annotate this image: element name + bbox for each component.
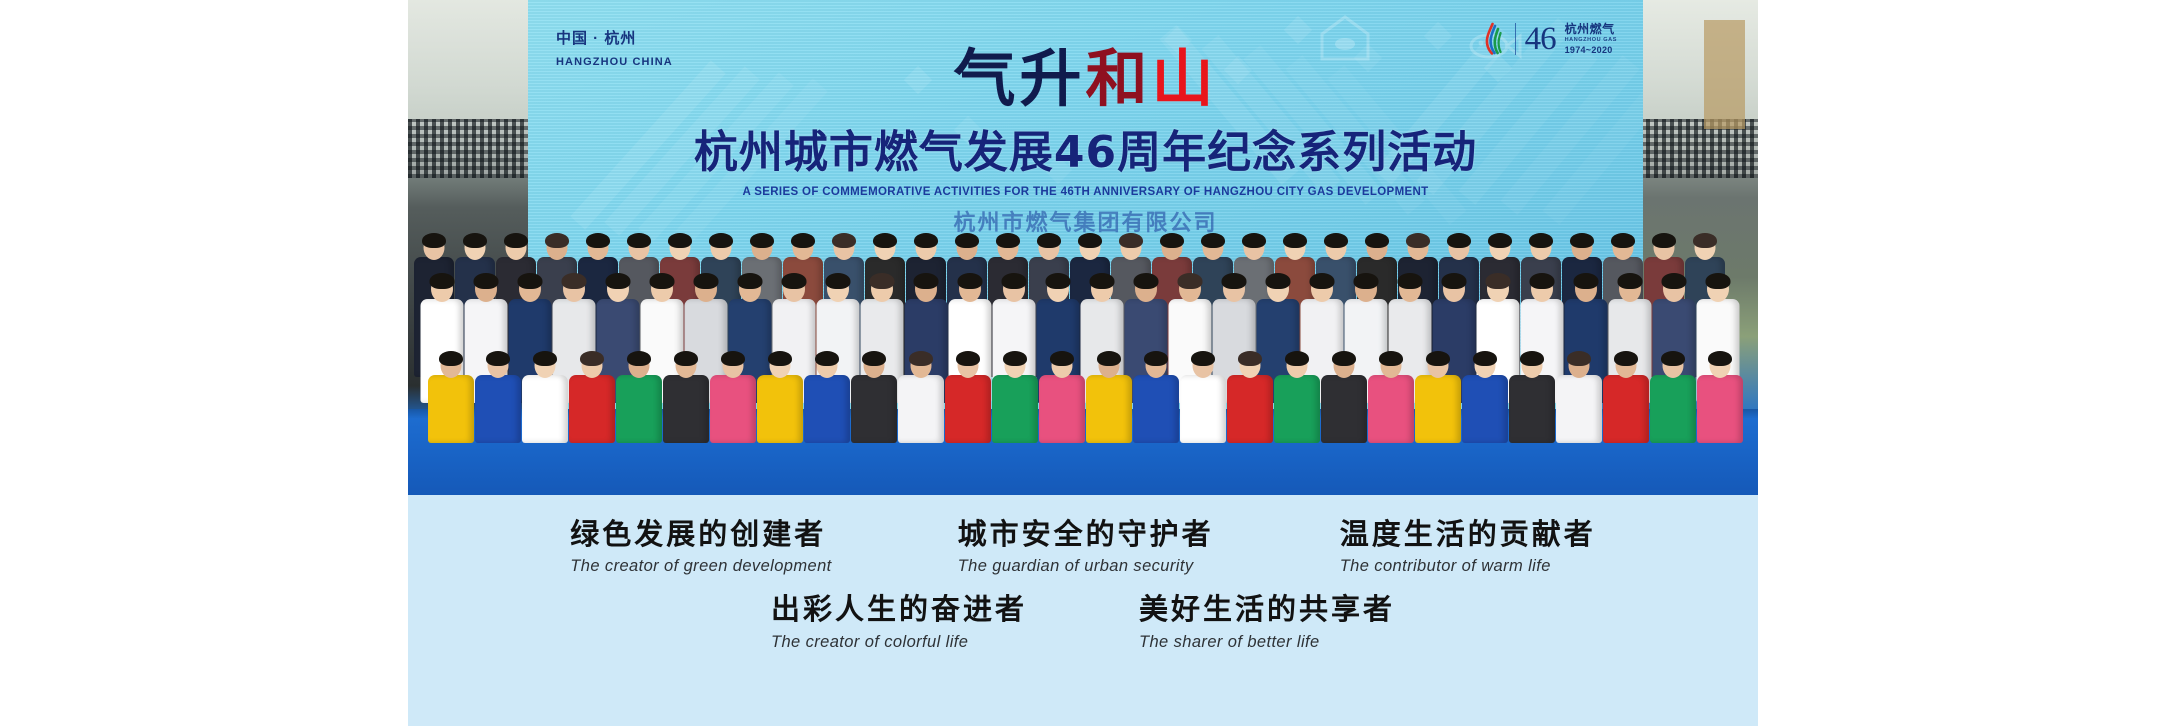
person-body: [898, 375, 944, 443]
person-hair: [1221, 273, 1246, 289]
person-hair: [649, 273, 674, 289]
person-hair: [1089, 273, 1114, 289]
person-hair: [1693, 233, 1717, 249]
person-hair: [1324, 233, 1348, 249]
person-hair: [1661, 273, 1686, 289]
calligraphy-part2: 和: [1085, 42, 1151, 115]
person-hair: [1570, 233, 1594, 249]
calligraphy-title: 气升和山: [528, 48, 1643, 110]
group-photo-crowd: [408, 165, 1758, 495]
person-body: [475, 375, 521, 443]
person-hair: [1201, 233, 1225, 249]
person-hair: [862, 351, 886, 367]
person-hair: [517, 273, 542, 289]
person-hair: [1191, 351, 1215, 367]
person-hair: [1614, 351, 1638, 367]
calligraphy-part1: 气升: [953, 42, 1085, 115]
person-hair: [1050, 351, 1074, 367]
person-hair: [439, 351, 463, 367]
person-hair: [1441, 273, 1466, 289]
person-hair: [1265, 273, 1290, 289]
person-body: [1603, 375, 1649, 443]
person-hair: [674, 351, 698, 367]
crowd-person: [1462, 342, 1508, 443]
person-body: [1039, 375, 1085, 443]
crowd-person: [522, 342, 568, 443]
crowd-person: [663, 342, 709, 443]
person-hair: [1097, 351, 1121, 367]
crowd-person: [1603, 342, 1649, 443]
person-hair: [709, 233, 733, 249]
person-hair: [605, 273, 630, 289]
slogan-cn: 城市安全的守护者: [958, 517, 1214, 552]
crowd-person: [475, 342, 521, 443]
person-hair: [1611, 233, 1635, 249]
slogan-panel: 绿色发展的创建者 The creator of green developmen…: [408, 495, 1758, 726]
person-hair: [545, 233, 569, 249]
crowd-person: [992, 342, 1038, 443]
person-body: [1180, 375, 1226, 443]
person-hair: [869, 273, 894, 289]
person-hair: [737, 273, 762, 289]
crowd-person: [710, 342, 756, 443]
crowd-person: [1086, 342, 1132, 443]
slogan-item: 城市安全的守护者 The guardian of urban security: [958, 517, 1214, 576]
person-hair: [1488, 233, 1512, 249]
person-hair: [422, 233, 446, 249]
person-hair: [1406, 233, 1430, 249]
person-hair: [1652, 233, 1676, 249]
person-hair: [693, 273, 718, 289]
crowd-person: [1321, 342, 1367, 443]
person-hair: [1617, 273, 1642, 289]
person-hair: [463, 233, 487, 249]
person-hair: [504, 233, 528, 249]
person-hair: [1119, 233, 1143, 249]
crowd-person: [851, 342, 897, 443]
person-hair: [1447, 233, 1471, 249]
crowd-person: [1133, 342, 1179, 443]
slogan-item: 绿色发展的创建者 The creator of green developmen…: [570, 517, 831, 576]
person-hair: [1573, 273, 1598, 289]
person-hair: [561, 273, 586, 289]
crowd-person: [569, 342, 615, 443]
crowd-person: [1368, 342, 1414, 443]
person-body: [710, 375, 756, 443]
person-hair: [1485, 273, 1510, 289]
person-hair: [668, 233, 692, 249]
person-hair: [1045, 273, 1070, 289]
company-name-en: HANGZHOU GAS: [1565, 37, 1617, 43]
person-body: [851, 375, 897, 443]
person-hair: [1661, 351, 1685, 367]
person-hair: [1285, 351, 1309, 367]
slogan-cn: 绿色发展的创建者: [570, 517, 831, 552]
person-hair: [955, 233, 979, 249]
person-hair: [815, 351, 839, 367]
crowd-person: [945, 342, 991, 443]
person-hair: [914, 233, 938, 249]
person-hair: [873, 233, 897, 249]
person-hair: [627, 351, 651, 367]
slogan-cn: 出彩人生的奋进者: [771, 592, 1027, 627]
person-body: [992, 375, 1038, 443]
slogan-item: 出彩人生的奋进者 The creator of colorful life: [771, 592, 1027, 651]
person-hair: [1365, 233, 1389, 249]
person-body: [1650, 375, 1696, 443]
person-hair: [1160, 233, 1184, 249]
slogan-en: The contributor of warm life: [1340, 557, 1596, 576]
person-body: [1556, 375, 1602, 443]
crowd-person: [757, 342, 803, 443]
venue-door: [1704, 20, 1746, 129]
person-hair: [1133, 273, 1158, 289]
person-hair: [580, 351, 604, 367]
slogan-item: 美好生活的共享者 The sharer of better life: [1139, 592, 1395, 651]
content-panel: 中国 · 杭州 HANGZHOU CHINA 46 杭州燃气: [408, 0, 1758, 726]
crowd-person: [1556, 342, 1602, 443]
person-hair: [1520, 351, 1544, 367]
person-hair: [486, 351, 510, 367]
person-hair: [1001, 273, 1026, 289]
person-hair: [1379, 351, 1403, 367]
person-hair: [1705, 273, 1730, 289]
person-body: [1697, 375, 1743, 443]
crowd-person: [1415, 342, 1461, 443]
person-body: [945, 375, 991, 443]
person-body: [1321, 375, 1367, 443]
slogan-en: The creator of colorful life: [771, 633, 1027, 652]
person-hair: [586, 233, 610, 249]
person-hair: [429, 273, 454, 289]
person-body: [428, 375, 474, 443]
crowd-person: [1039, 342, 1085, 443]
crowd-person: [898, 342, 944, 443]
person-hair: [913, 273, 938, 289]
slogan-row-1: 绿色发展的创建者 The creator of green developmen…: [408, 495, 1758, 576]
person-body: [1086, 375, 1132, 443]
person-body: [804, 375, 850, 443]
person-hair: [1708, 351, 1732, 367]
person-hair: [791, 233, 815, 249]
person-hair: [1003, 351, 1027, 367]
slogan-item: 温度生活的贡献者 The contributor of warm life: [1340, 517, 1596, 576]
person-body: [1462, 375, 1508, 443]
slogan-cn: 美好生活的共享者: [1139, 592, 1395, 627]
slogan-en: The guardian of urban security: [958, 557, 1214, 576]
crowd-person: [1274, 342, 1320, 443]
slogan-row-2: 出彩人生的奋进者 The creator of colorful life 美好…: [408, 576, 1758, 651]
person-hair: [1332, 351, 1356, 367]
person-hair: [957, 273, 982, 289]
page-root: 中国 · 杭州 HANGZHOU CHINA 46 杭州燃气: [0, 0, 2179, 726]
person-body: [522, 375, 568, 443]
person-body: [757, 375, 803, 443]
person-body: [1368, 375, 1414, 443]
slogan-en: The creator of green development: [570, 557, 831, 576]
person-body: [1415, 375, 1461, 443]
crowd-person: [1697, 342, 1743, 443]
person-hair: [533, 351, 557, 367]
person-hair: [1283, 233, 1307, 249]
person-hair: [1473, 351, 1497, 367]
crowd-person: [616, 342, 662, 443]
person-hair: [721, 351, 745, 367]
person-hair: [1426, 351, 1450, 367]
person-body: [1227, 375, 1273, 443]
crowd-person: [1650, 342, 1696, 443]
person-hair: [627, 233, 651, 249]
person-body: [1274, 375, 1320, 443]
person-body: [1133, 375, 1179, 443]
event-stage-photo: 中国 · 杭州 HANGZHOU CHINA 46 杭州燃气: [408, 0, 1758, 495]
crowd-person: [428, 342, 474, 443]
person-hair: [825, 273, 850, 289]
person-hair: [1309, 273, 1334, 289]
person-hair: [1037, 233, 1061, 249]
person-hair: [1078, 233, 1102, 249]
person-hair: [1177, 273, 1202, 289]
person-hair: [768, 351, 792, 367]
person-hair: [996, 233, 1020, 249]
person-hair: [956, 351, 980, 367]
person-hair: [832, 233, 856, 249]
company-name-cn: 杭州燃气: [1565, 23, 1617, 37]
person-body: [663, 375, 709, 443]
person-hair: [1567, 351, 1591, 367]
crowd-person: [1509, 342, 1555, 443]
person-hair: [1242, 233, 1266, 249]
calligraphy-part3: 山: [1152, 42, 1218, 115]
person-hair: [473, 273, 498, 289]
person-body: [1509, 375, 1555, 443]
person-body: [569, 375, 615, 443]
person-hair: [1144, 351, 1168, 367]
person-hair: [1529, 233, 1553, 249]
person-hair: [750, 233, 774, 249]
crowd-person: [1227, 342, 1273, 443]
person-hair: [1353, 273, 1378, 289]
person-hair: [781, 273, 806, 289]
person-hair: [1529, 273, 1554, 289]
crowd-person: [1180, 342, 1226, 443]
slogan-en: The sharer of better life: [1139, 633, 1395, 652]
person-hair: [1397, 273, 1422, 289]
crowd-person: [804, 342, 850, 443]
person-hair: [909, 351, 933, 367]
person-hair: [1238, 351, 1262, 367]
slogan-cn: 温度生活的贡献者: [1340, 517, 1596, 552]
person-body: [616, 375, 662, 443]
